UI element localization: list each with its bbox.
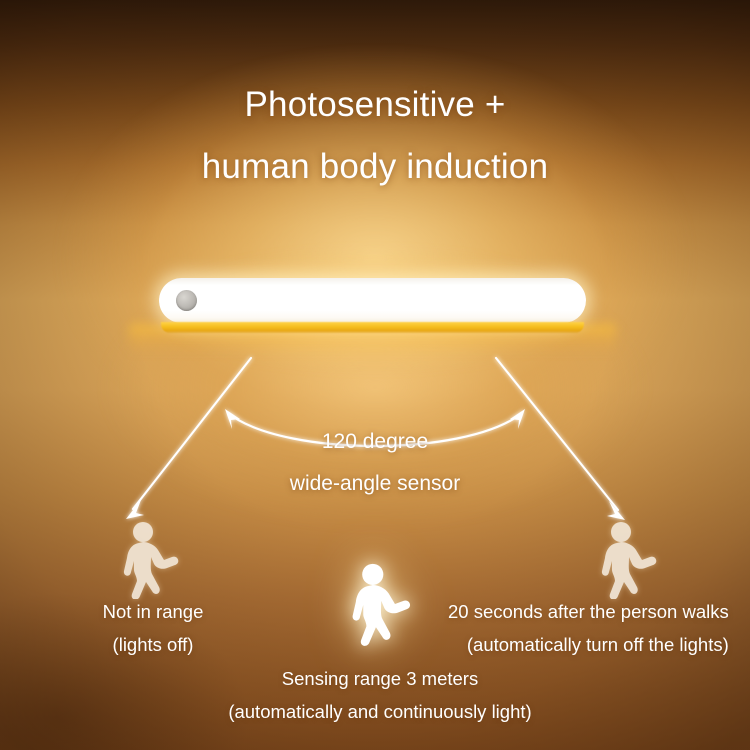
- scenario-left-line-2: (lights off): [58, 628, 248, 661]
- scenario-caption-right: 20 seconds after the person walks (autom…: [448, 595, 729, 661]
- scenario-right-line-1: 20 seconds after the person walks: [448, 595, 729, 628]
- sensor-angle-label: 120 degree wide-angle sensor: [0, 421, 750, 505]
- scenario-center-line-2: (automatically and continuously light): [185, 695, 575, 728]
- walking-person-icon-right: [590, 521, 660, 599]
- walking-person-icon-left: [112, 521, 182, 599]
- sensor-angle-line-2: wide-angle sensor: [0, 463, 750, 505]
- scenario-center-line-1: Sensing range 3 meters: [185, 662, 575, 695]
- scenario-right-line-2: (automatically turn off the lights): [448, 628, 729, 661]
- scenario-left-line-1: Not in range: [58, 595, 248, 628]
- scenario-caption-left: Not in range (lights off): [58, 595, 248, 661]
- scenario-caption-center: Sensing range 3 meters (automatically an…: [185, 662, 575, 728]
- walking-person-icon-center: [340, 562, 414, 646]
- sensor-angle-line-1: 120 degree: [0, 421, 750, 463]
- product-feature-image: Photosensitive + human body induction: [0, 0, 750, 750]
